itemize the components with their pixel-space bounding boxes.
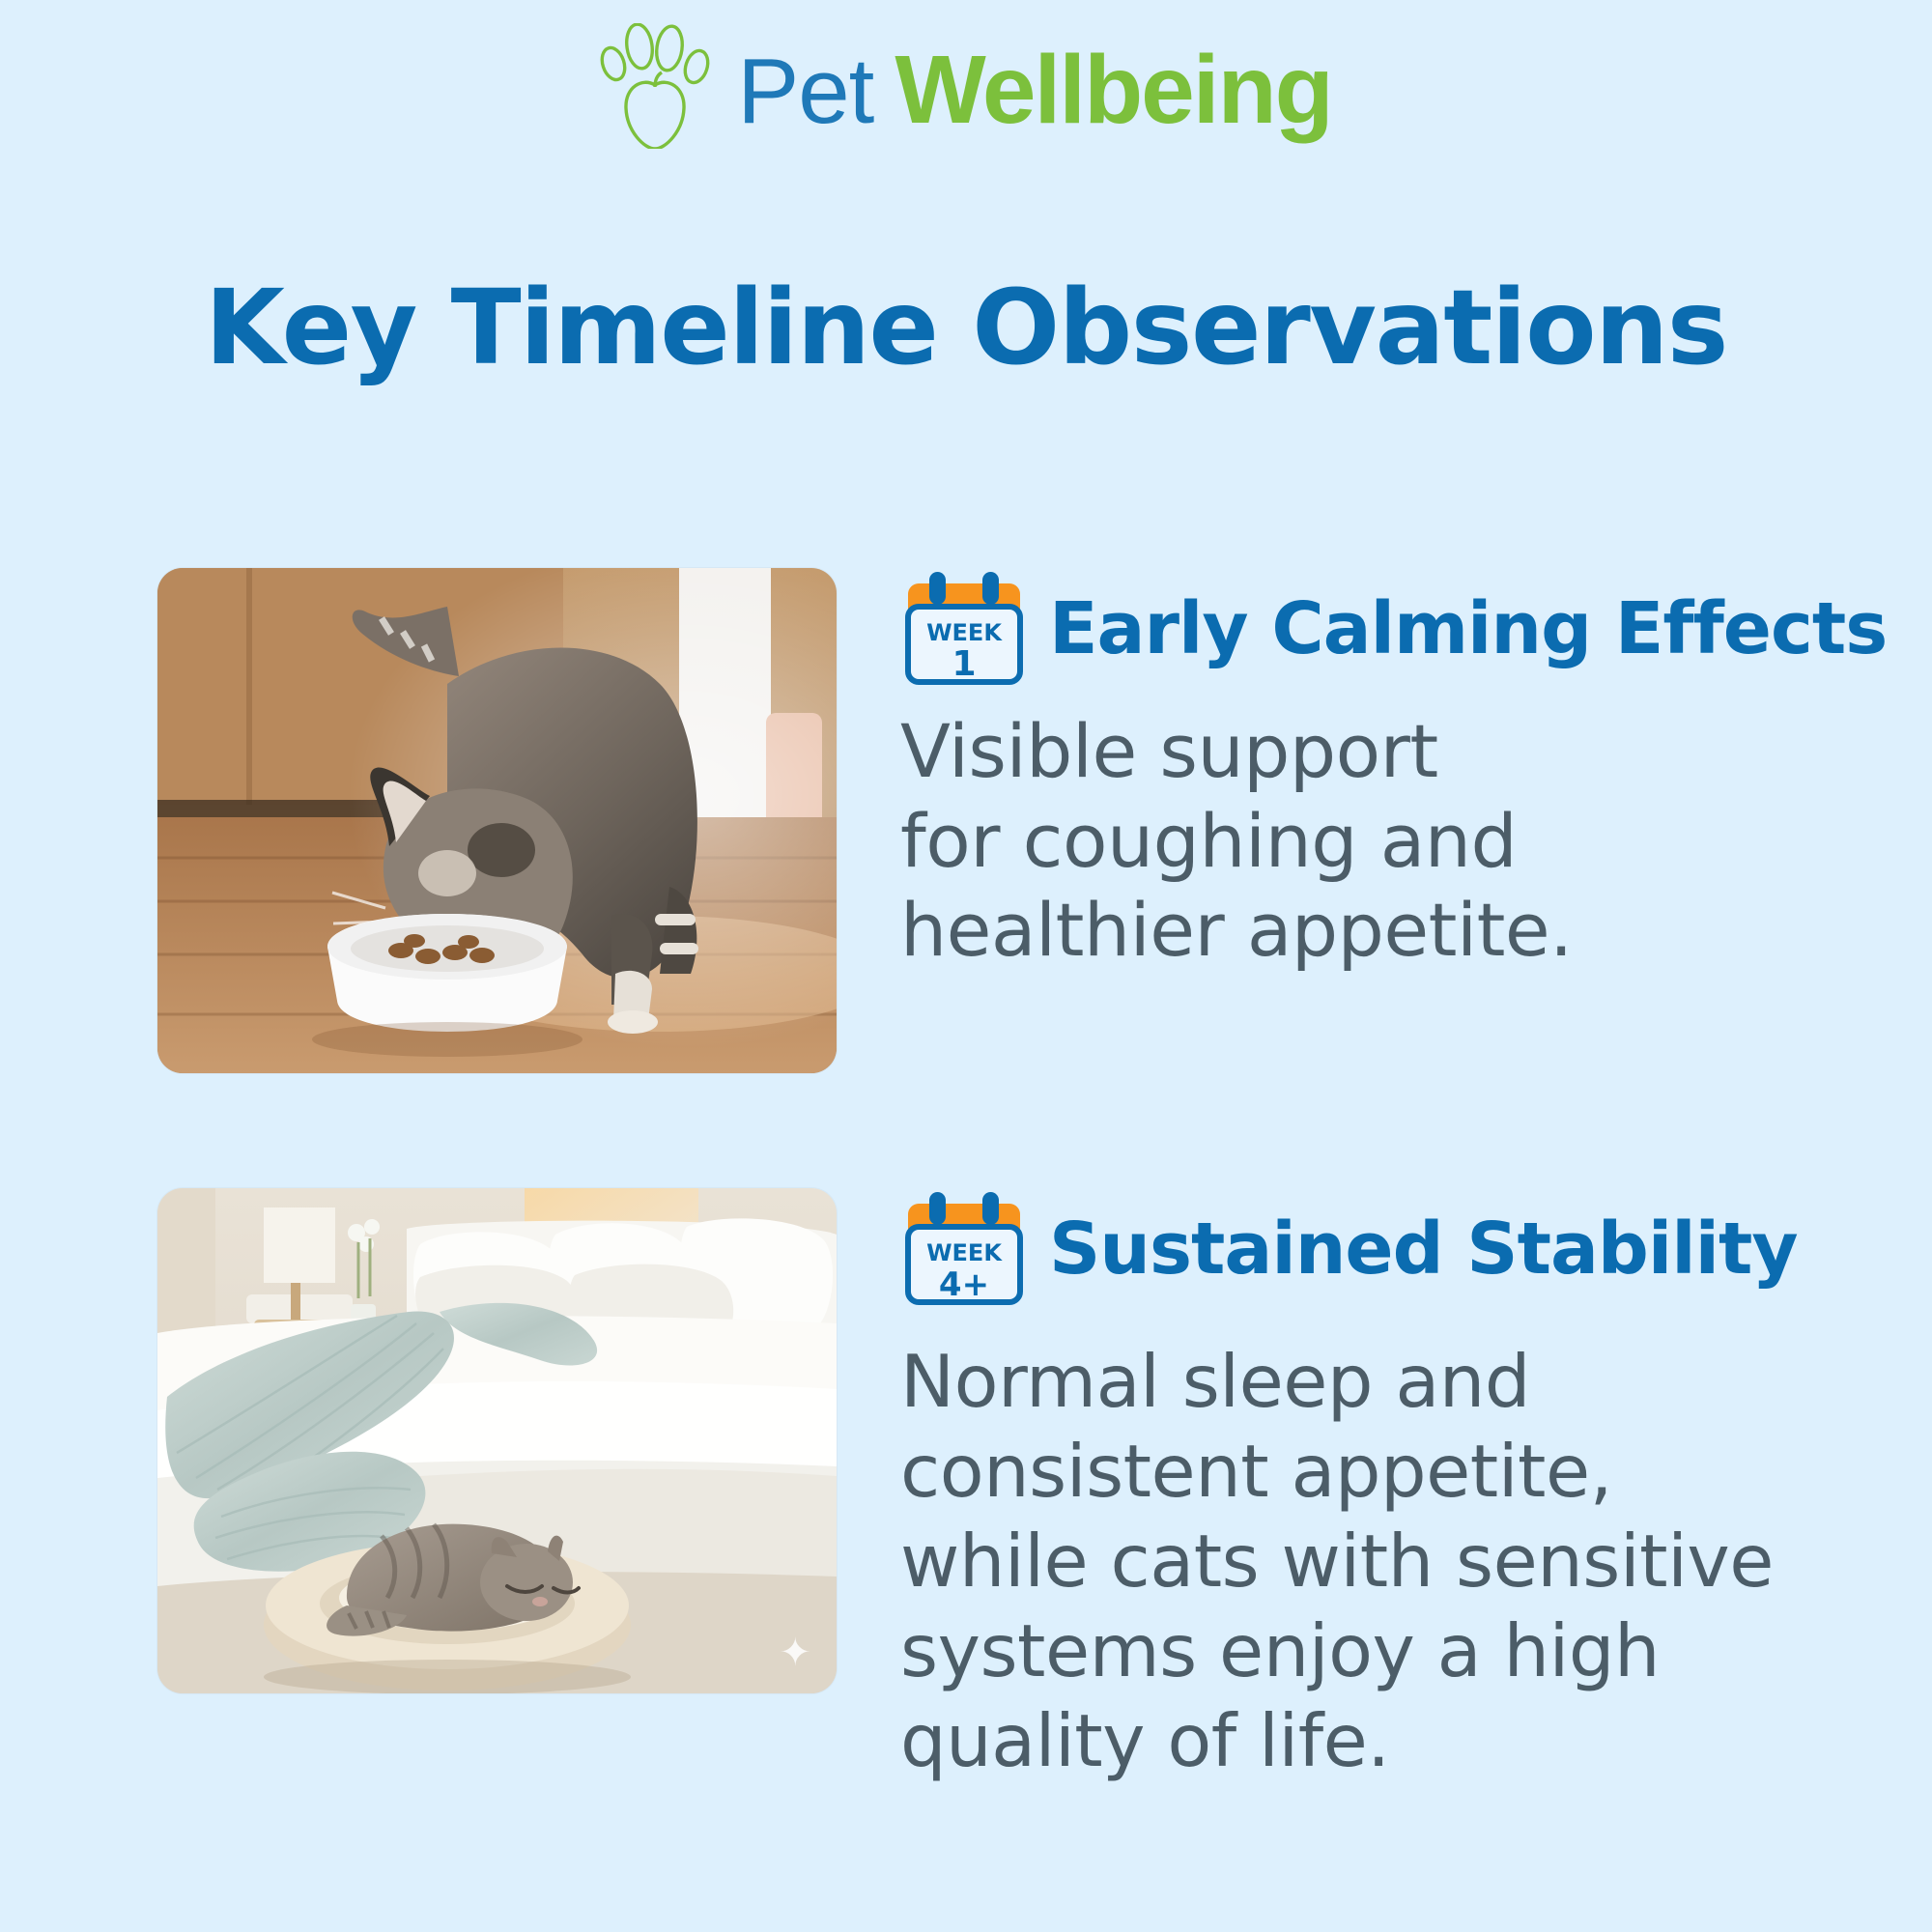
paw-apple-logo-icon (600, 23, 716, 149)
timeline-item-body: Normal sleep and consistent appetite, wh… (900, 1337, 1932, 1786)
brand-word-pet: Pet (737, 45, 873, 138)
timeline-item: ✦ WEEK 4+ Sustained Stability (0, 1188, 1932, 1786)
svg-text:WEEK: WEEK (926, 619, 1003, 646)
timeline-item-body: Visible support for coughing and healthi… (900, 707, 1932, 976)
brand-logo: Pet Wellbeing (0, 14, 1932, 158)
svg-text:1: 1 (952, 644, 976, 684)
timeline-item-heading: Early Calming Effects (1049, 592, 1887, 668)
timeline-item-photo-cat-sleeping: ✦ (157, 1188, 837, 1693)
svg-text:4+: 4+ (939, 1265, 989, 1304)
brand-word-wellbeing: Wellbeing (895, 42, 1331, 138)
timeline-item-heading: Sustained Stability (1049, 1212, 1798, 1288)
calendar-icon: WEEK 1 (900, 568, 1028, 696)
svg-text:WEEK: WEEK (926, 1239, 1003, 1266)
timeline-item-headline: WEEK 4+ Sustained Stability (900, 1188, 1932, 1316)
timeline-item-photo-cat-eating (157, 568, 837, 1073)
infographic-page: Pet Wellbeing Key Timeline Observations (0, 0, 1932, 1932)
timeline-item-text: WEEK 4+ Sustained Stability Normal sleep… (900, 1188, 1932, 1786)
timeline-item-text: WEEK 1 Early Calming Effects Visible sup… (900, 568, 1932, 976)
page-title: Key Timeline Observations (0, 274, 1932, 383)
timeline-item-headline: WEEK 1 Early Calming Effects (900, 568, 1932, 696)
brand-wordmark: Pet Wellbeing (737, 42, 1332, 138)
calendar-icon: WEEK 4+ (900, 1188, 1028, 1316)
timeline-item: WEEK 1 Early Calming Effects Visible sup… (0, 568, 1932, 1073)
